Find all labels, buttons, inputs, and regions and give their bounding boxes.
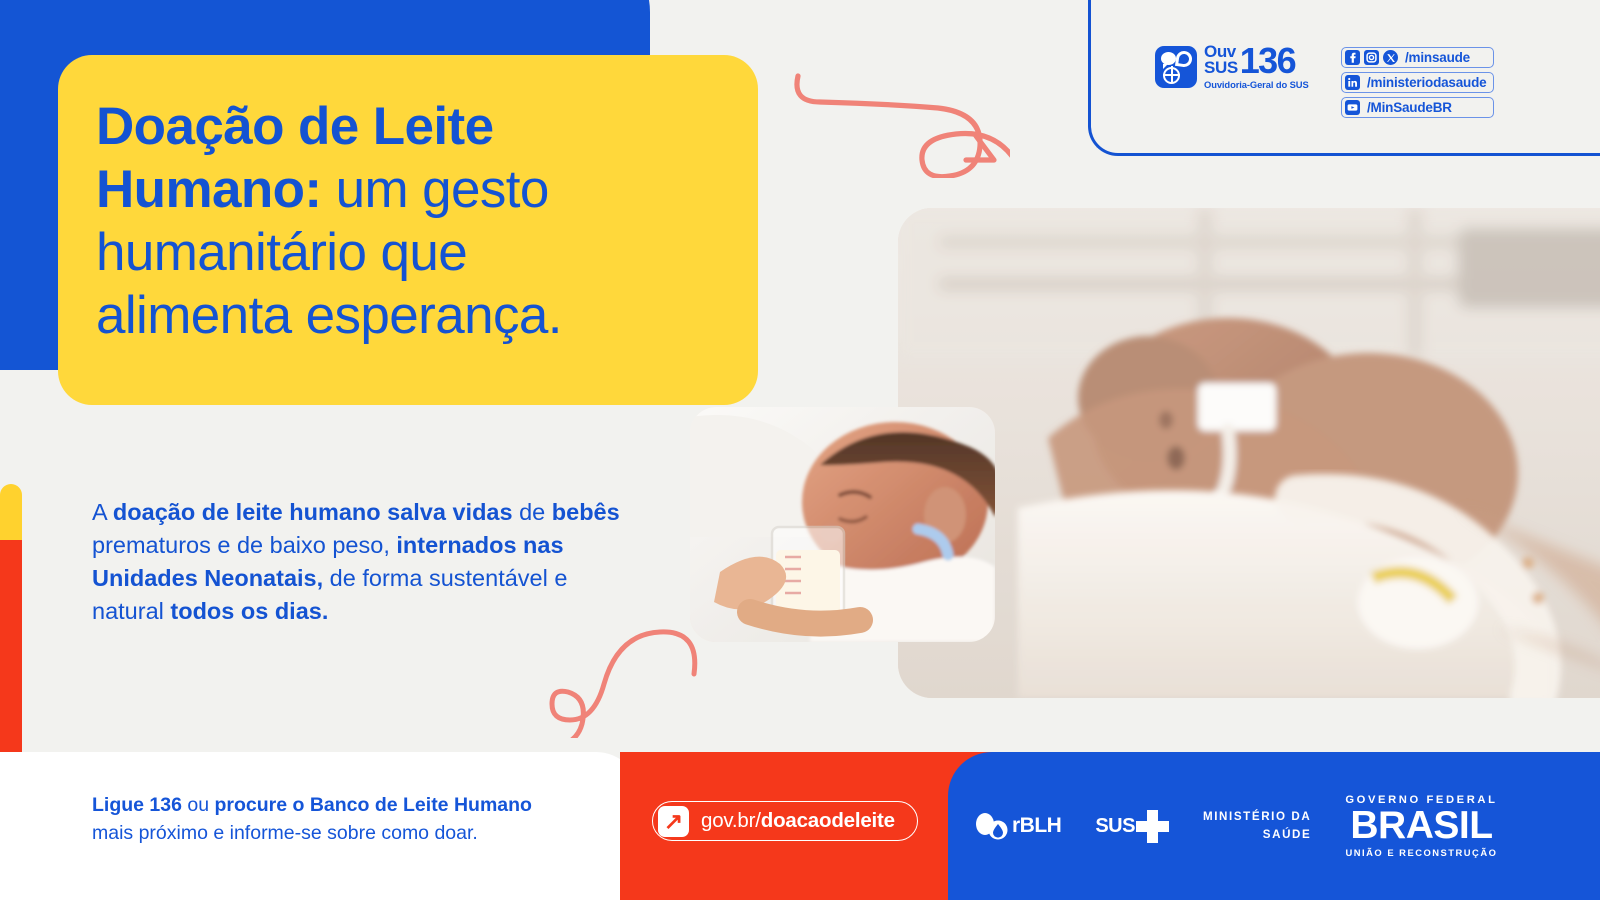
speech-bubble-icon [1161, 52, 1176, 65]
footer-cta-line2: mais próximo e informe-se sobre como doa… [92, 822, 478, 844]
rblh-label: rBLH [1012, 814, 1061, 838]
body-seg-7: todos os dias. [170, 598, 328, 624]
social-handle-minsaudebr[interactable]: /MinSaudeBR [1367, 100, 1452, 115]
social-handle-minsaude[interactable]: /minsaude [1405, 50, 1470, 65]
url-slug: doacaodeleite [761, 809, 895, 832]
social-pill-ministeriodasaude[interactable]: /ministeriodasaude [1341, 72, 1494, 93]
baby-feeding-photo [690, 407, 995, 642]
brasil-wordmark: BRASIL [1345, 806, 1497, 847]
body-seg-1: doação de leite humano salva vidas [113, 499, 513, 525]
governo-federal-brasil-logo: GOVERNO FEDERAL BRASIL UNIÃO E RECONSTRU… [1345, 794, 1497, 858]
hero-title-line4: alimenta esperança. [96, 286, 562, 345]
external-link-arrow-icon [658, 806, 689, 837]
campaign-banner: Doação de Leite Humano: um gesto humanit… [0, 0, 1600, 900]
hero-title-line2-bold: Humano: [96, 160, 321, 219]
decorative-arrow-squiggle-top [780, 58, 1010, 183]
body-seg-2: de [513, 499, 552, 525]
ouvsus-badge-icon [1155, 46, 1197, 88]
hero-title-line2-rest: um gesto [321, 160, 548, 219]
ouvsus-136-logo: Ouv SUS 136 Ouvidoria-Geral do SUS [1155, 44, 1309, 89]
edge-strip-red [0, 540, 22, 752]
website-url-text[interactable]: gov.br/doacaodeleite [701, 809, 895, 833]
social-pill-minsaude[interactable]: /minsaude [1341, 47, 1494, 68]
government-logos-group: rBLH SUS MINISTÉRIO DA SAÚDE GOVERNO FED… [975, 770, 1595, 882]
body-seg-3: bebês [552, 499, 620, 525]
phone-icon [1175, 49, 1193, 67]
ministerio-line2: SAÚDE [1203, 826, 1311, 844]
ouvsus-stacked-words: Ouv SUS [1204, 44, 1238, 77]
instagram-icon[interactable] [1364, 50, 1379, 65]
social-pill-minsaudebr[interactable]: /MinSaudeBR [1341, 97, 1494, 118]
sus-cross-icon [1136, 810, 1169, 843]
uniao-reconstrucao-label: UNIÃO E RECONSTRUÇÃO [1345, 847, 1497, 858]
ministerio-line1: MINISTÉRIO DA [1203, 808, 1311, 826]
rblh-droplet-icon [975, 813, 1009, 840]
social-links-group: /minsaude /ministeriodasaude /MinSaudeBR [1341, 47, 1494, 118]
hero-card: Doação de Leite Humano: um gesto humanit… [58, 55, 758, 405]
rblh-logo: rBLH [975, 813, 1061, 840]
hero-title-line1: Doação de Leite [96, 97, 493, 156]
body-seg-0: A [92, 499, 113, 525]
footer-cta-plain: ou [182, 794, 215, 816]
x-twitter-icon[interactable] [1383, 50, 1398, 65]
body-seg-4: prematuros e de baixo peso, [92, 532, 396, 558]
sus-logo: SUS [1095, 810, 1169, 843]
decorative-squiggle-bottom [518, 598, 718, 743]
page-title: Doação de Leite Humano: um gesto humanit… [96, 95, 718, 347]
incubator-baby-photo [898, 208, 1600, 698]
youtube-icon[interactable] [1345, 100, 1360, 115]
ouvsus-text-block: Ouv SUS 136 Ouvidoria-Geral do SUS [1204, 44, 1309, 89]
linkedin-icon[interactable] [1345, 75, 1360, 90]
hero-title-line3: humanitário que [96, 223, 467, 282]
ouvsus-number: 136 [1240, 46, 1295, 77]
globe-icon [1163, 67, 1180, 84]
ouvsus-word-sus: SUS [1204, 60, 1238, 76]
website-url-button[interactable]: gov.br/doacaodeleite [652, 801, 918, 841]
facebook-icon[interactable] [1345, 50, 1360, 65]
footer-cta-text: Ligue 136 ou procure o Banco de Leite Hu… [92, 792, 612, 847]
sus-label: SUS [1095, 815, 1135, 838]
url-prefix: gov.br/ [701, 809, 761, 832]
ouvsus-subtitle: Ouvidoria-Geral do SUS [1204, 80, 1309, 89]
ministerio-da-saude-logo: MINISTÉRIO DA SAÚDE [1203, 808, 1311, 844]
footer-cta-bold-b: procure o Banco de Leite Humano [214, 794, 531, 816]
social-handle-ministeriodasaude[interactable]: /ministeriodasaude [1367, 75, 1486, 90]
footer-cta-bold-a: Ligue 136 [92, 794, 182, 816]
